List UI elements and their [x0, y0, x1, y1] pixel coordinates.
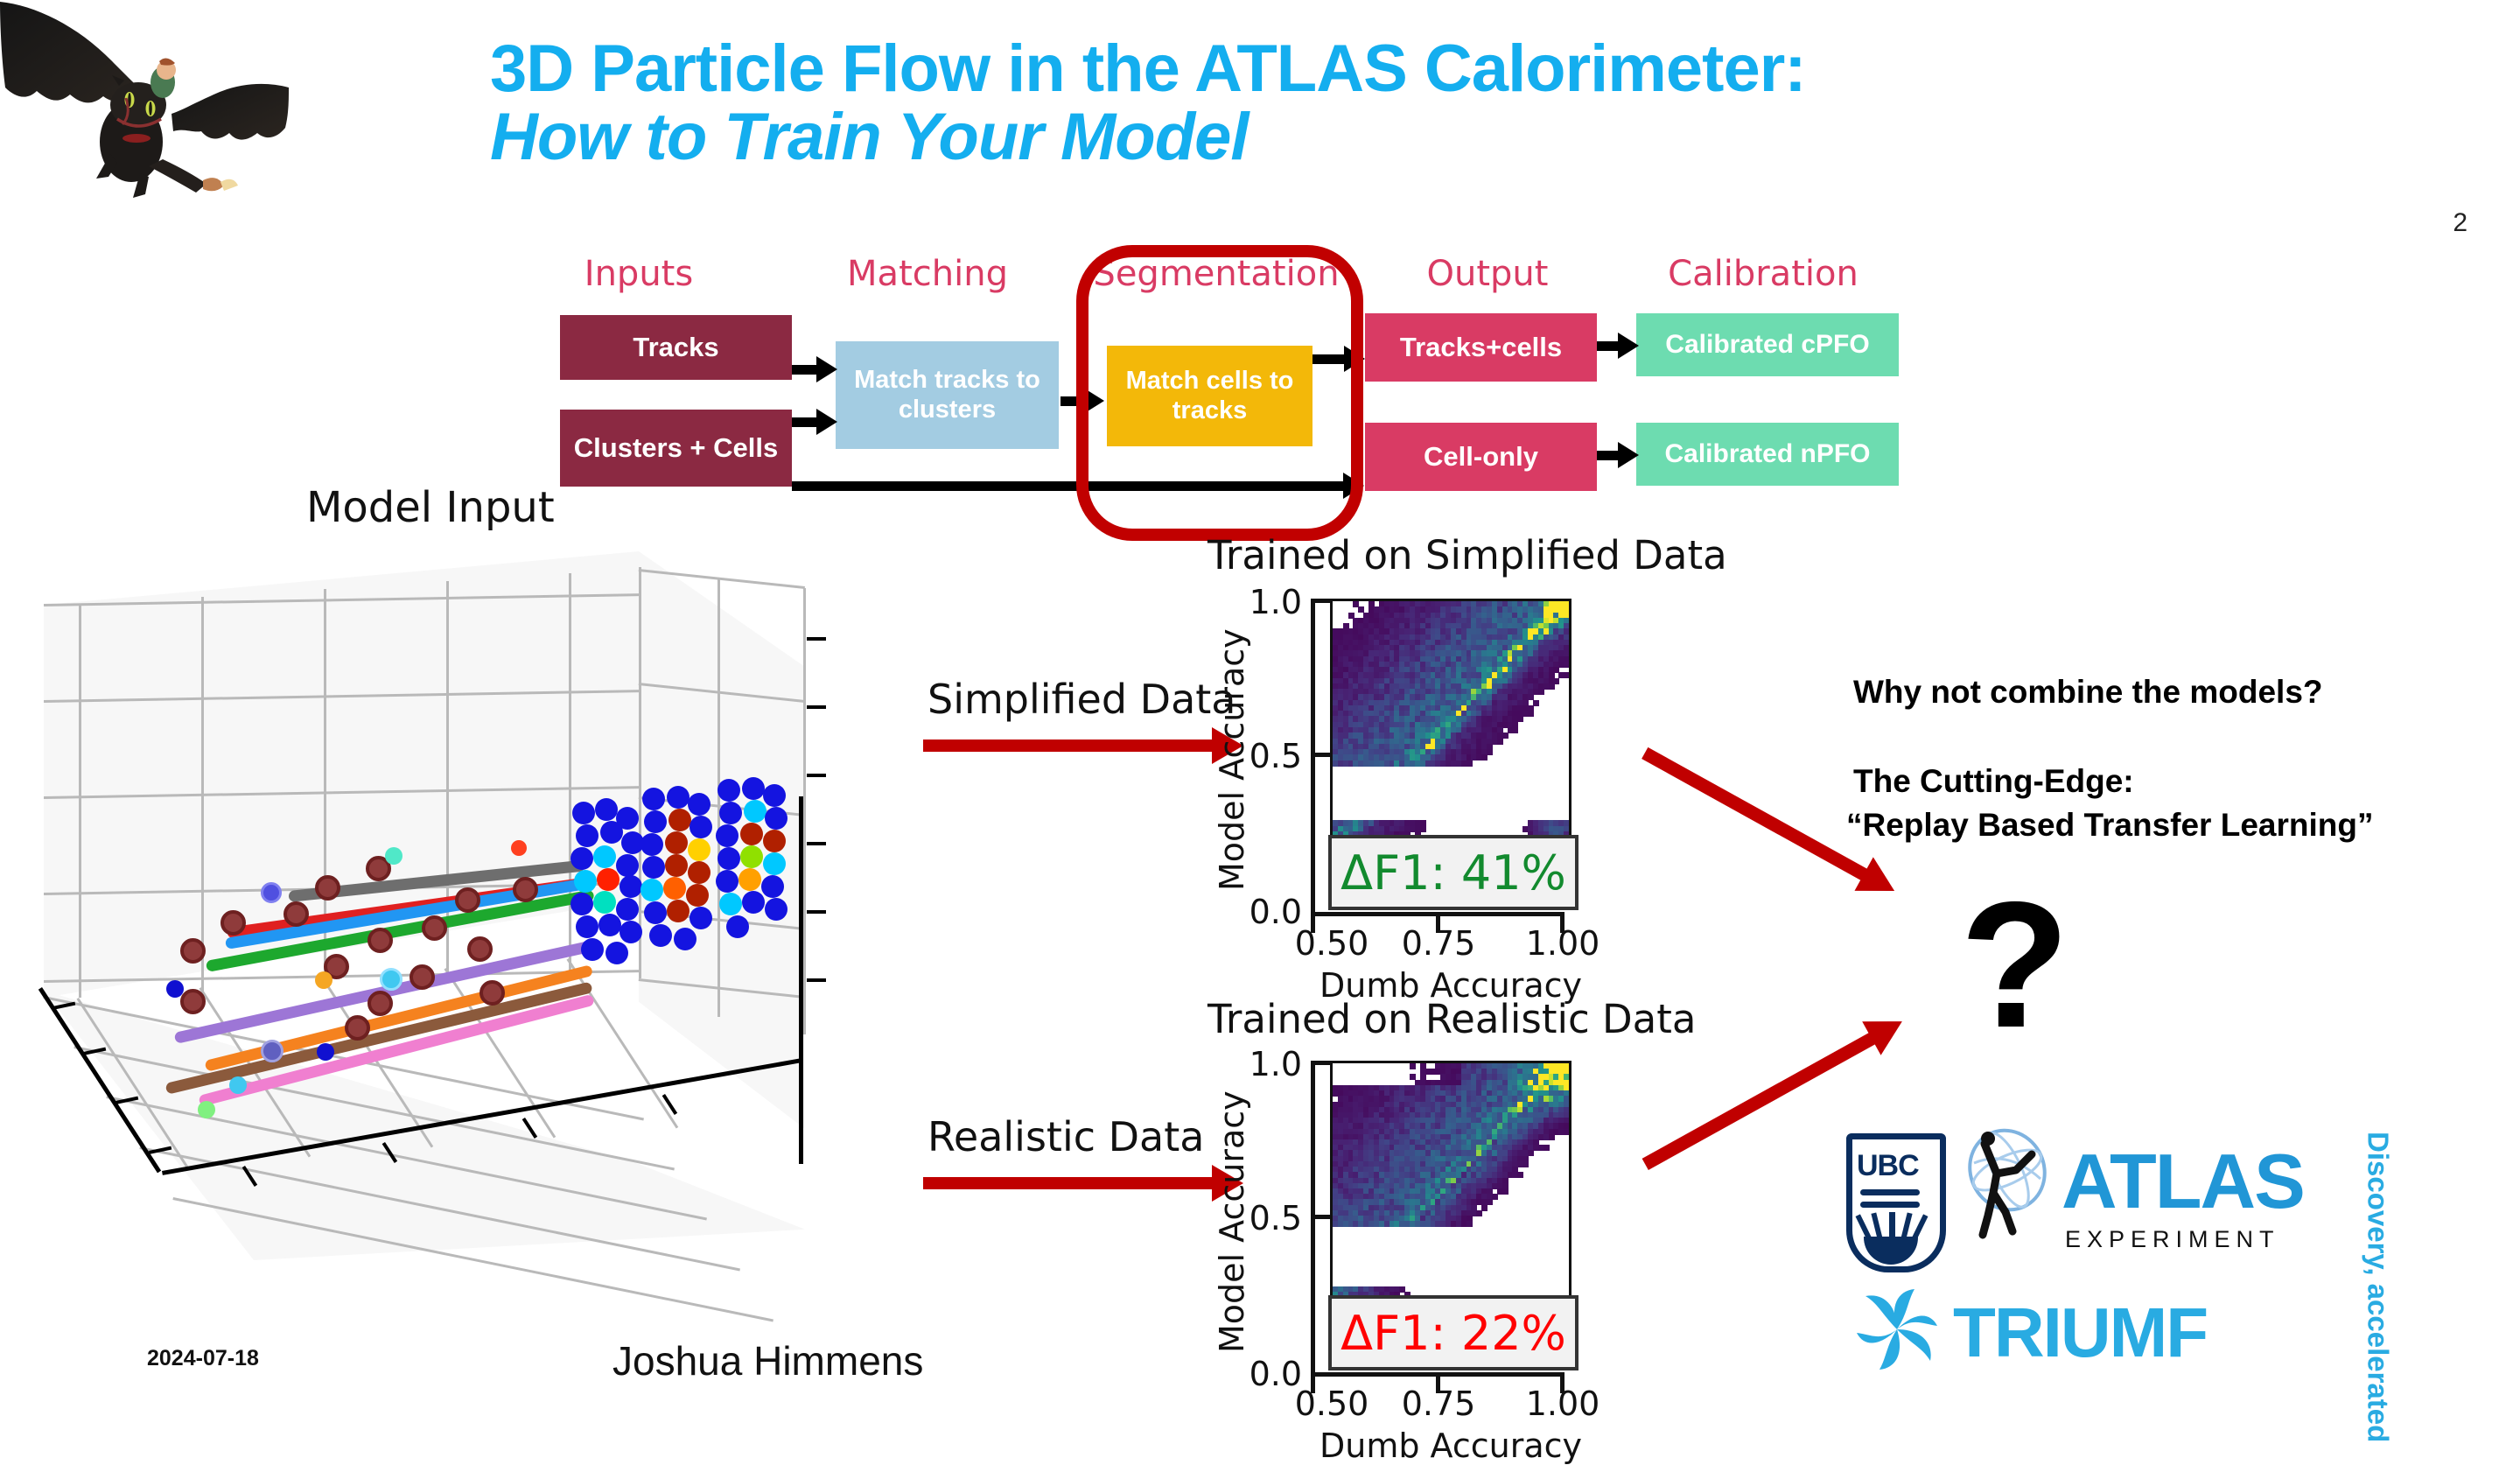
- flowchart-box-tracks-plus-cells: Tracks+cells: [1365, 313, 1597, 382]
- heatmap-cell: [1512, 727, 1518, 733]
- page-title: 3D Particle Flow in the ATLAS Calorimete…: [490, 35, 2152, 171]
- heatmap-cell: [1410, 1063, 1416, 1069]
- chart-xtick2-1-00: 1.00: [1503, 1384, 1622, 1423]
- plot-back-pane: [44, 551, 639, 998]
- heatmap-cell: [1528, 711, 1534, 717]
- flowchart-header-calibration: Calibration: [1619, 254, 1907, 294]
- question-mark: ?: [1960, 875, 2069, 1055]
- heatmap-cell: [1481, 754, 1487, 761]
- title-line-2: How to Train Your Model: [490, 103, 2152, 172]
- chart-xtick2-0-75: 0.75: [1379, 1384, 1498, 1423]
- heatmap-cell: [1522, 1161, 1529, 1167]
- heatmap-cell: [1476, 1210, 1482, 1216]
- atlas-logo-subtext: EXPERIMENT: [2065, 1226, 2280, 1253]
- flowchart-box-clusters-cells: Clusters + Cells: [560, 410, 792, 487]
- triumf-logo: TRIUMF: [1846, 1282, 2249, 1378]
- dragon-decorative-image: [0, 0, 289, 214]
- chart-ytick-0-5: 0.5: [1232, 737, 1302, 775]
- heatmap-cell: [1538, 689, 1544, 695]
- heatmap-cell: [1564, 1129, 1570, 1135]
- delta-f1-badge-realistic: ΔF1: 22%: [1328, 1295, 1578, 1370]
- heatmap-cell: [1502, 1188, 1508, 1195]
- pipeline-flowchart: Inputs Matching Segmentation Output Cali…: [542, 254, 1907, 525]
- segmentation-highlight-outline: [1076, 245, 1363, 541]
- delta-f1-value-realistic: ΔF1: 22%: [1340, 1306, 1566, 1361]
- footer-author: Joshua Himmens: [612, 1337, 923, 1384]
- chart-xtick-0-75: 0.75: [1379, 924, 1498, 963]
- atlas-globe-icon: [1958, 1128, 2054, 1246]
- heatmap-cell: [1564, 672, 1570, 678]
- model-input-title: Model Input: [306, 483, 555, 532]
- delta-f1-value-simplified: ΔF1: 41%: [1340, 845, 1566, 901]
- flowchart-box-calibrated-cpfo: Calibrated cPFO: [1636, 313, 1899, 376]
- triumf-tagline: Discovery, accelerated: [2362, 1132, 2393, 1442]
- heatmap-cell: [1549, 683, 1555, 690]
- atlas-logo-text: ATLAS: [2061, 1137, 2304, 1226]
- flowchart-box-cell-only: Cell-only: [1365, 423, 1597, 491]
- flowchart-box-calibrated-npfo: Calibrated nPFO: [1636, 423, 1899, 486]
- heatmap-cell: [1466, 1221, 1473, 1227]
- calorimeter-cluster-layer-3: [714, 777, 794, 948]
- plot-axis-right: [799, 796, 803, 1164]
- heatmap-realistic: [1330, 1061, 1571, 1316]
- chart-panel-realistic: Trained on Realistic Data Model Accuracy…: [1190, 996, 1715, 1425]
- chart-panel-simplified: Trained on Simplified Data Model Accurac…: [1190, 532, 1715, 970]
- ubc-logo: UBC: [1846, 1133, 1942, 1273]
- flowchart-header-matching: Matching: [796, 254, 1059, 294]
- model-input-3d-plot: [26, 543, 910, 1339]
- chart-ytick2-1-0: 1.0: [1232, 1045, 1302, 1083]
- chart-title-realistic: Trained on Realistic Data: [1207, 996, 1696, 1042]
- chart-xtick2-0-50: 0.50: [1272, 1384, 1391, 1423]
- flowchart-header-output: Output: [1378, 254, 1597, 294]
- heatmap-cell: [1497, 739, 1503, 745]
- title-line-1: 3D Particle Flow in the ATLAS Calorimete…: [490, 35, 2152, 103]
- chart-xtick-0-50: 0.50: [1272, 924, 1391, 963]
- delta-f1-badge-simplified: ΔF1: 41%: [1328, 835, 1578, 910]
- flowchart-box-tracks: Tracks: [560, 315, 792, 380]
- heatmap-cell: [1543, 1145, 1550, 1151]
- arrow-label-realistic-data: Realistic Data: [927, 1113, 1204, 1160]
- chart-ytick-1-0: 1.0: [1232, 583, 1302, 621]
- ubc-logo-text: UBC: [1857, 1149, 1919, 1183]
- chart-xlabel-realistic: Dumb Accuracy: [1319, 1426, 1582, 1465]
- heatmap-cell: [1466, 761, 1473, 767]
- heatmap-cell: [1517, 1172, 1523, 1178]
- chart-xtick-1-00: 1.00: [1503, 924, 1622, 963]
- atlas-logo: ATLAS EXPERIMENT: [1958, 1125, 2343, 1278]
- chart-title-simplified: Trained on Simplified Data: [1207, 532, 1727, 578]
- right-text-line-1: Why not combine the models?: [1853, 674, 2323, 711]
- footer-date: 2024-07-18: [147, 1346, 259, 1371]
- triumf-pinwheel-icon: [1850, 1286, 1944, 1373]
- heatmap-simplified: [1330, 599, 1571, 856]
- chart-ytick2-0-5: 0.5: [1232, 1199, 1302, 1237]
- triumf-logo-text: TRIUMF: [1953, 1293, 2207, 1373]
- logo-strip: UBC ATLAS EXPERIMENT: [1846, 1125, 2441, 1387]
- flowchart-box-match-tracks-to-clusters: Match tracks to clusters: [836, 341, 1059, 449]
- right-text-line-2: The Cutting-Edge:: [1853, 763, 2134, 800]
- flowchart-header-inputs: Inputs: [542, 254, 735, 294]
- calorimeter-cluster-layer-1: [569, 796, 649, 971]
- calorimeter-cluster-layer-2: [639, 786, 719, 965]
- heatmap-cell: [1549, 1134, 1555, 1140]
- right-text-line-3: “Replay Based Transfer Learning”: [1846, 807, 2373, 844]
- heatmap-cell: [1564, 662, 1570, 668]
- slide-number: 2: [2453, 208, 2467, 238]
